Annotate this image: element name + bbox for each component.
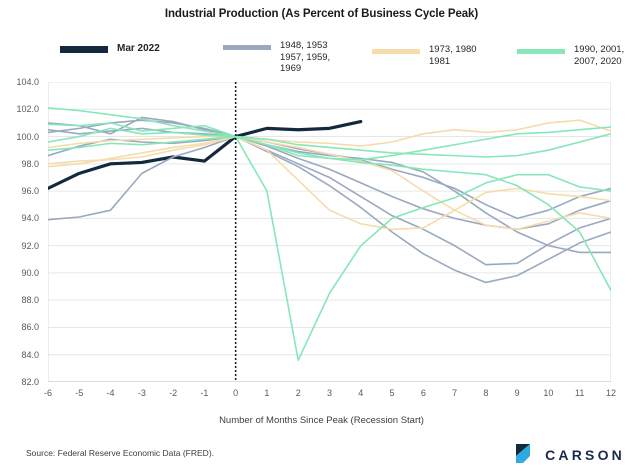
y-axis-tick-label: 96.0 bbox=[21, 186, 39, 196]
chart-root: Industrial Production (As Percent of Bus… bbox=[0, 0, 643, 471]
y-axis-tick-label: 84.0 bbox=[21, 350, 39, 360]
y-axis-tick-label: 92.0 bbox=[21, 241, 39, 251]
x-axis-tick-label: 10 bbox=[543, 388, 553, 398]
x-axis-tick-label: 1 bbox=[264, 388, 269, 398]
x-axis-tick-label: 2 bbox=[296, 388, 301, 398]
source-note: Source: Federal Reserve Economic Data (F… bbox=[26, 448, 214, 458]
x-axis-tick-label: 9 bbox=[515, 388, 520, 398]
chart-title: Industrial Production (As Percent of Bus… bbox=[0, 8, 643, 20]
x-axis-tick-label: 4 bbox=[358, 388, 363, 398]
x-axis-tick-label: 7 bbox=[452, 388, 457, 398]
legend-item-label: 1990, 2001,2007, 2020 bbox=[574, 44, 624, 67]
brand-lockup: CARSON bbox=[514, 443, 625, 467]
legend-item-label: Mar 2022 bbox=[117, 42, 160, 55]
y-axis-tick-labels: 82.084.086.088.090.092.094.096.098.0100.… bbox=[0, 82, 44, 382]
legend-swatch bbox=[223, 45, 271, 50]
x-axis-tick-label: 12 bbox=[606, 388, 616, 398]
legend-item[interactable]: Mar 2022 bbox=[60, 42, 160, 55]
brand-name: CARSON bbox=[545, 447, 625, 463]
plot-area bbox=[48, 82, 611, 382]
chart-legend: Mar 20221948, 19531957, 1959,19691973, 1… bbox=[60, 42, 635, 74]
plot-svg bbox=[48, 82, 611, 382]
x-axis-tick-label: -1 bbox=[200, 388, 208, 398]
carson-chevron-icon bbox=[514, 443, 536, 467]
x-axis-tick-label: 3 bbox=[327, 388, 332, 398]
y-axis-tick-label: 98.0 bbox=[21, 159, 39, 169]
legend-item[interactable]: 1973, 19801981 bbox=[372, 44, 477, 67]
y-axis-tick-label: 102.0 bbox=[16, 104, 39, 114]
x-axis-tick-label: 0 bbox=[233, 388, 238, 398]
legend-item-label: 1948, 19531957, 1959,1969 bbox=[280, 40, 330, 75]
legend-swatch bbox=[60, 46, 108, 53]
x-axis-tick-label: -6 bbox=[44, 388, 52, 398]
x-axis-title: Number of Months Since Peak (Recession S… bbox=[0, 415, 643, 426]
y-axis-tick-label: 100.0 bbox=[16, 132, 39, 142]
y-axis-tick-label: 104.0 bbox=[16, 77, 39, 87]
x-axis-tick-label: -2 bbox=[169, 388, 177, 398]
legend-item[interactable]: 1948, 19531957, 1959,1969 bbox=[223, 40, 330, 75]
x-axis-tick-labels: -6-5-4-3-2-10123456789101112 bbox=[48, 388, 611, 404]
y-axis-tick-label: 90.0 bbox=[21, 268, 39, 278]
x-axis-tick-label: 5 bbox=[390, 388, 395, 398]
x-axis-tick-label: -4 bbox=[107, 388, 115, 398]
y-axis-tick-label: 86.0 bbox=[21, 322, 39, 332]
legend-swatch bbox=[517, 49, 565, 54]
legend-item-label: 1973, 19801981 bbox=[429, 44, 477, 67]
legend-item[interactable]: 1990, 2001,2007, 2020 bbox=[517, 44, 624, 67]
x-axis-tick-label: 6 bbox=[421, 388, 426, 398]
y-axis-tick-label: 82.0 bbox=[21, 377, 39, 387]
y-axis-tick-label: 88.0 bbox=[21, 295, 39, 305]
x-axis-tick-label: -3 bbox=[138, 388, 146, 398]
legend-swatch bbox=[372, 49, 420, 54]
x-axis-tick-label: -5 bbox=[75, 388, 83, 398]
x-axis-tick-label: 11 bbox=[575, 388, 584, 398]
x-axis-tick-label: 8 bbox=[483, 388, 488, 398]
y-axis-tick-label: 94.0 bbox=[21, 213, 39, 223]
